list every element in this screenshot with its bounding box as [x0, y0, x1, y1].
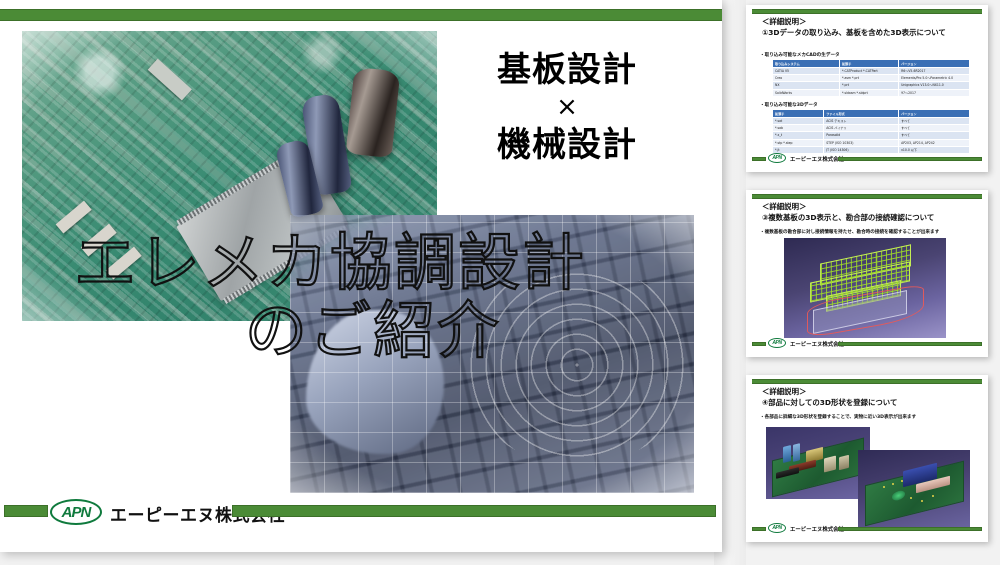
- cell: v10.0 以下: [899, 146, 970, 153]
- footer-accent-left: [752, 157, 766, 161]
- th-format: ファイル形式: [824, 110, 899, 118]
- footer-accent-right: [838, 527, 982, 531]
- footer-accent-left: [4, 505, 48, 517]
- table-row: CATIA V5 *.CATProduct *.CATPart R6～V5-6R…: [773, 68, 970, 75]
- thumb-title: ＜詳細説明＞ ③複数基板の3D表示と、勘合部の接続確認について: [762, 202, 980, 223]
- table-row: NX *.prt Unigraphics V13.0～NX11.0: [773, 82, 970, 89]
- th-version: バージョン: [899, 110, 970, 118]
- thumb-footer: APN エーピーエヌ株式会社: [752, 154, 982, 164]
- apn-logo-icon: APN: [768, 523, 786, 533]
- thumb-top-accent-bar: [752, 9, 982, 14]
- cell: AP203, AP214, AP242: [899, 139, 970, 146]
- footer-accent-left: [752, 342, 766, 346]
- table-row: *.x_t Parasolid すべて: [773, 132, 970, 139]
- thumb-top-accent-bar: [752, 194, 982, 199]
- table-row: Creo *.asm *.prt Elements/Pro 5.0～Parame…: [773, 75, 970, 82]
- cell: *.sldasm *.sldprt: [839, 89, 898, 96]
- keyboard-hand-photo: [290, 215, 694, 493]
- company-name: エーピーエヌ株式会社: [790, 340, 844, 348]
- thumb-title-line1: ＜詳細説明＞: [762, 202, 980, 213]
- thumb-bullet: ・各部品に詳細な3D形状を登録することで、実物に近い3D表示が出来ます: [760, 415, 980, 421]
- table-row: *.sab ACIS バイナリ すべて: [773, 125, 970, 132]
- presentation-viewer: 基板設計 × 機械設計 エレメカ協調設計 のご紹介 APN エーピーエヌ株式会社…: [0, 0, 1000, 565]
- connector-board-3d-render: [858, 450, 970, 528]
- cell: *.sat: [773, 118, 824, 125]
- cell: STEP (ISO 10303): [824, 139, 899, 146]
- thumb-title-line2: ③複数基板の3D表示と、勘合部の接続確認について: [762, 213, 980, 224]
- cell: *.stp *.step: [773, 139, 824, 146]
- cell: すべて: [899, 132, 970, 139]
- cell: *.jt: [773, 146, 824, 153]
- thumb-title: ＜詳細説明＞ ④部品に対しての3D形状を登録について: [762, 387, 980, 408]
- thumbnail-slide-detail-1[interactable]: ＜詳細説明＞ ①3Dデータの取り込み、基板を含めた3D表示について ・取り込み可…: [746, 5, 988, 172]
- cell: *.CATProduct *.CATPart: [839, 68, 898, 75]
- thumb-title-line2: ④部品に対しての3D形状を登録について: [762, 398, 980, 409]
- slide-footer: APN エーピーエヌ株式会社: [0, 500, 722, 522]
- side-heading-separator: ×: [452, 92, 682, 123]
- apn-logo-icon: APN: [768, 338, 786, 348]
- cell: すべて: [899, 125, 970, 132]
- cell: Unigraphics V13.0～NX11.0: [899, 82, 970, 89]
- table-row: *.jt JT (ISO 14306) v10.0 以下: [773, 146, 970, 153]
- cell: CATIA V5: [773, 68, 840, 75]
- th-system: 取り込みシステム: [773, 60, 840, 68]
- footer-accent-right: [838, 157, 982, 161]
- footer-accent-left: [752, 527, 766, 531]
- cell: *.prt: [839, 82, 898, 89]
- cell: *.asm *.prt: [839, 75, 898, 82]
- thumb-bullet: ・複数基板の勘合部に対し接続情報を持たせ、勘合時の接続を確認することが出来ます: [760, 230, 980, 236]
- thumb-title-line1: ＜詳細説明＞: [762, 17, 980, 28]
- multi-board-3d-wireframe-render: [784, 238, 946, 338]
- main-slide[interactable]: 基板設計 × 機械設計 エレメカ協調設計 のご紹介 APN エーピーエヌ株式会社: [0, 0, 722, 552]
- cell: *.sab: [773, 125, 824, 132]
- thumb-title-line1: ＜詳細説明＞: [762, 387, 980, 398]
- table2-label: ・取り込み可能な3Dデータ: [760, 102, 818, 108]
- side-heading-line2: 機械設計: [452, 125, 682, 165]
- cell: JT (ISO 14306): [824, 146, 899, 153]
- th-ext: 拡張子: [839, 60, 898, 68]
- table-header-row: 取り込みシステム 拡張子 バージョン: [773, 60, 970, 68]
- cell: ACIS テキスト: [824, 118, 899, 125]
- slide-top-accent-bar: [0, 9, 722, 21]
- thumb-footer: APN エーピーエヌ株式会社: [752, 524, 982, 534]
- thumb-footer: APN エーピーエヌ株式会社: [752, 339, 982, 349]
- apn-logo-icon: APN: [768, 153, 786, 163]
- table-header-row: 拡張子 ファイル形式 バージョン: [773, 110, 970, 118]
- thumb-title-line2: ①3Dデータの取り込み、基板を含めた3D表示について: [762, 28, 980, 39]
- footer-accent-right: [232, 505, 716, 517]
- table-row: *.sat ACIS テキスト すべて: [773, 118, 970, 125]
- capacitor: [345, 67, 399, 158]
- cell: すべて: [899, 118, 970, 125]
- cell: R6～V5-6R2017: [899, 68, 970, 75]
- cell: Parasolid: [824, 132, 899, 139]
- th-version: バージョン: [899, 60, 970, 68]
- company-name: エーピーエヌ株式会社: [790, 525, 844, 533]
- company-name: エーピーエヌ株式会社: [790, 155, 844, 163]
- cell: *.x_t: [773, 132, 824, 139]
- cell: Elements/Pro 5.0～Parametric 4.0: [899, 75, 970, 82]
- thumb-title: ＜詳細説明＞ ①3Dデータの取り込み、基板を含めた3D表示について: [762, 17, 980, 38]
- tech-grid-overlay: [290, 215, 694, 493]
- table-row: *.stp *.step STEP (ISO 10303) AP203, AP2…: [773, 139, 970, 146]
- side-heading: 基板設計 × 機械設計: [452, 50, 682, 165]
- thumbnail-slide-detail-4[interactable]: ＜詳細説明＞ ④部品に対しての3D形状を登録について ・各部品に詳細な3D形状を…: [746, 375, 988, 542]
- footer-accent-right: [838, 342, 982, 346]
- table1-label: ・取り込み可能なメカCADの生データ: [760, 52, 840, 58]
- th-ext: 拡張子: [773, 110, 824, 118]
- cell: ACIS バイナリ: [824, 125, 899, 132]
- cell: NX: [773, 82, 840, 89]
- side-heading-line1: 基板設計: [452, 50, 682, 90]
- power-supply-board-3d-render: [766, 427, 870, 499]
- cell: 97～2017: [899, 89, 970, 96]
- table-row: SolidWorks *.sldasm *.sldprt 97～2017: [773, 89, 970, 96]
- importable-3d-data-table: 拡張子 ファイル形式 バージョン *.sat ACIS テキスト すべて *.s…: [772, 109, 970, 154]
- thumb-top-accent-bar: [752, 379, 982, 384]
- cell: Creo: [773, 75, 840, 82]
- apn-logo-icon: APN: [50, 499, 102, 525]
- cell: SolidWorks: [773, 89, 840, 96]
- cad-native-data-table: 取り込みシステム 拡張子 バージョン CATIA V5 *.CATProduct…: [772, 59, 970, 97]
- thumbnail-slide-detail-3[interactable]: ＜詳細説明＞ ③複数基板の3D表示と、勘合部の接続確認について ・複数基板の勘合…: [746, 190, 988, 357]
